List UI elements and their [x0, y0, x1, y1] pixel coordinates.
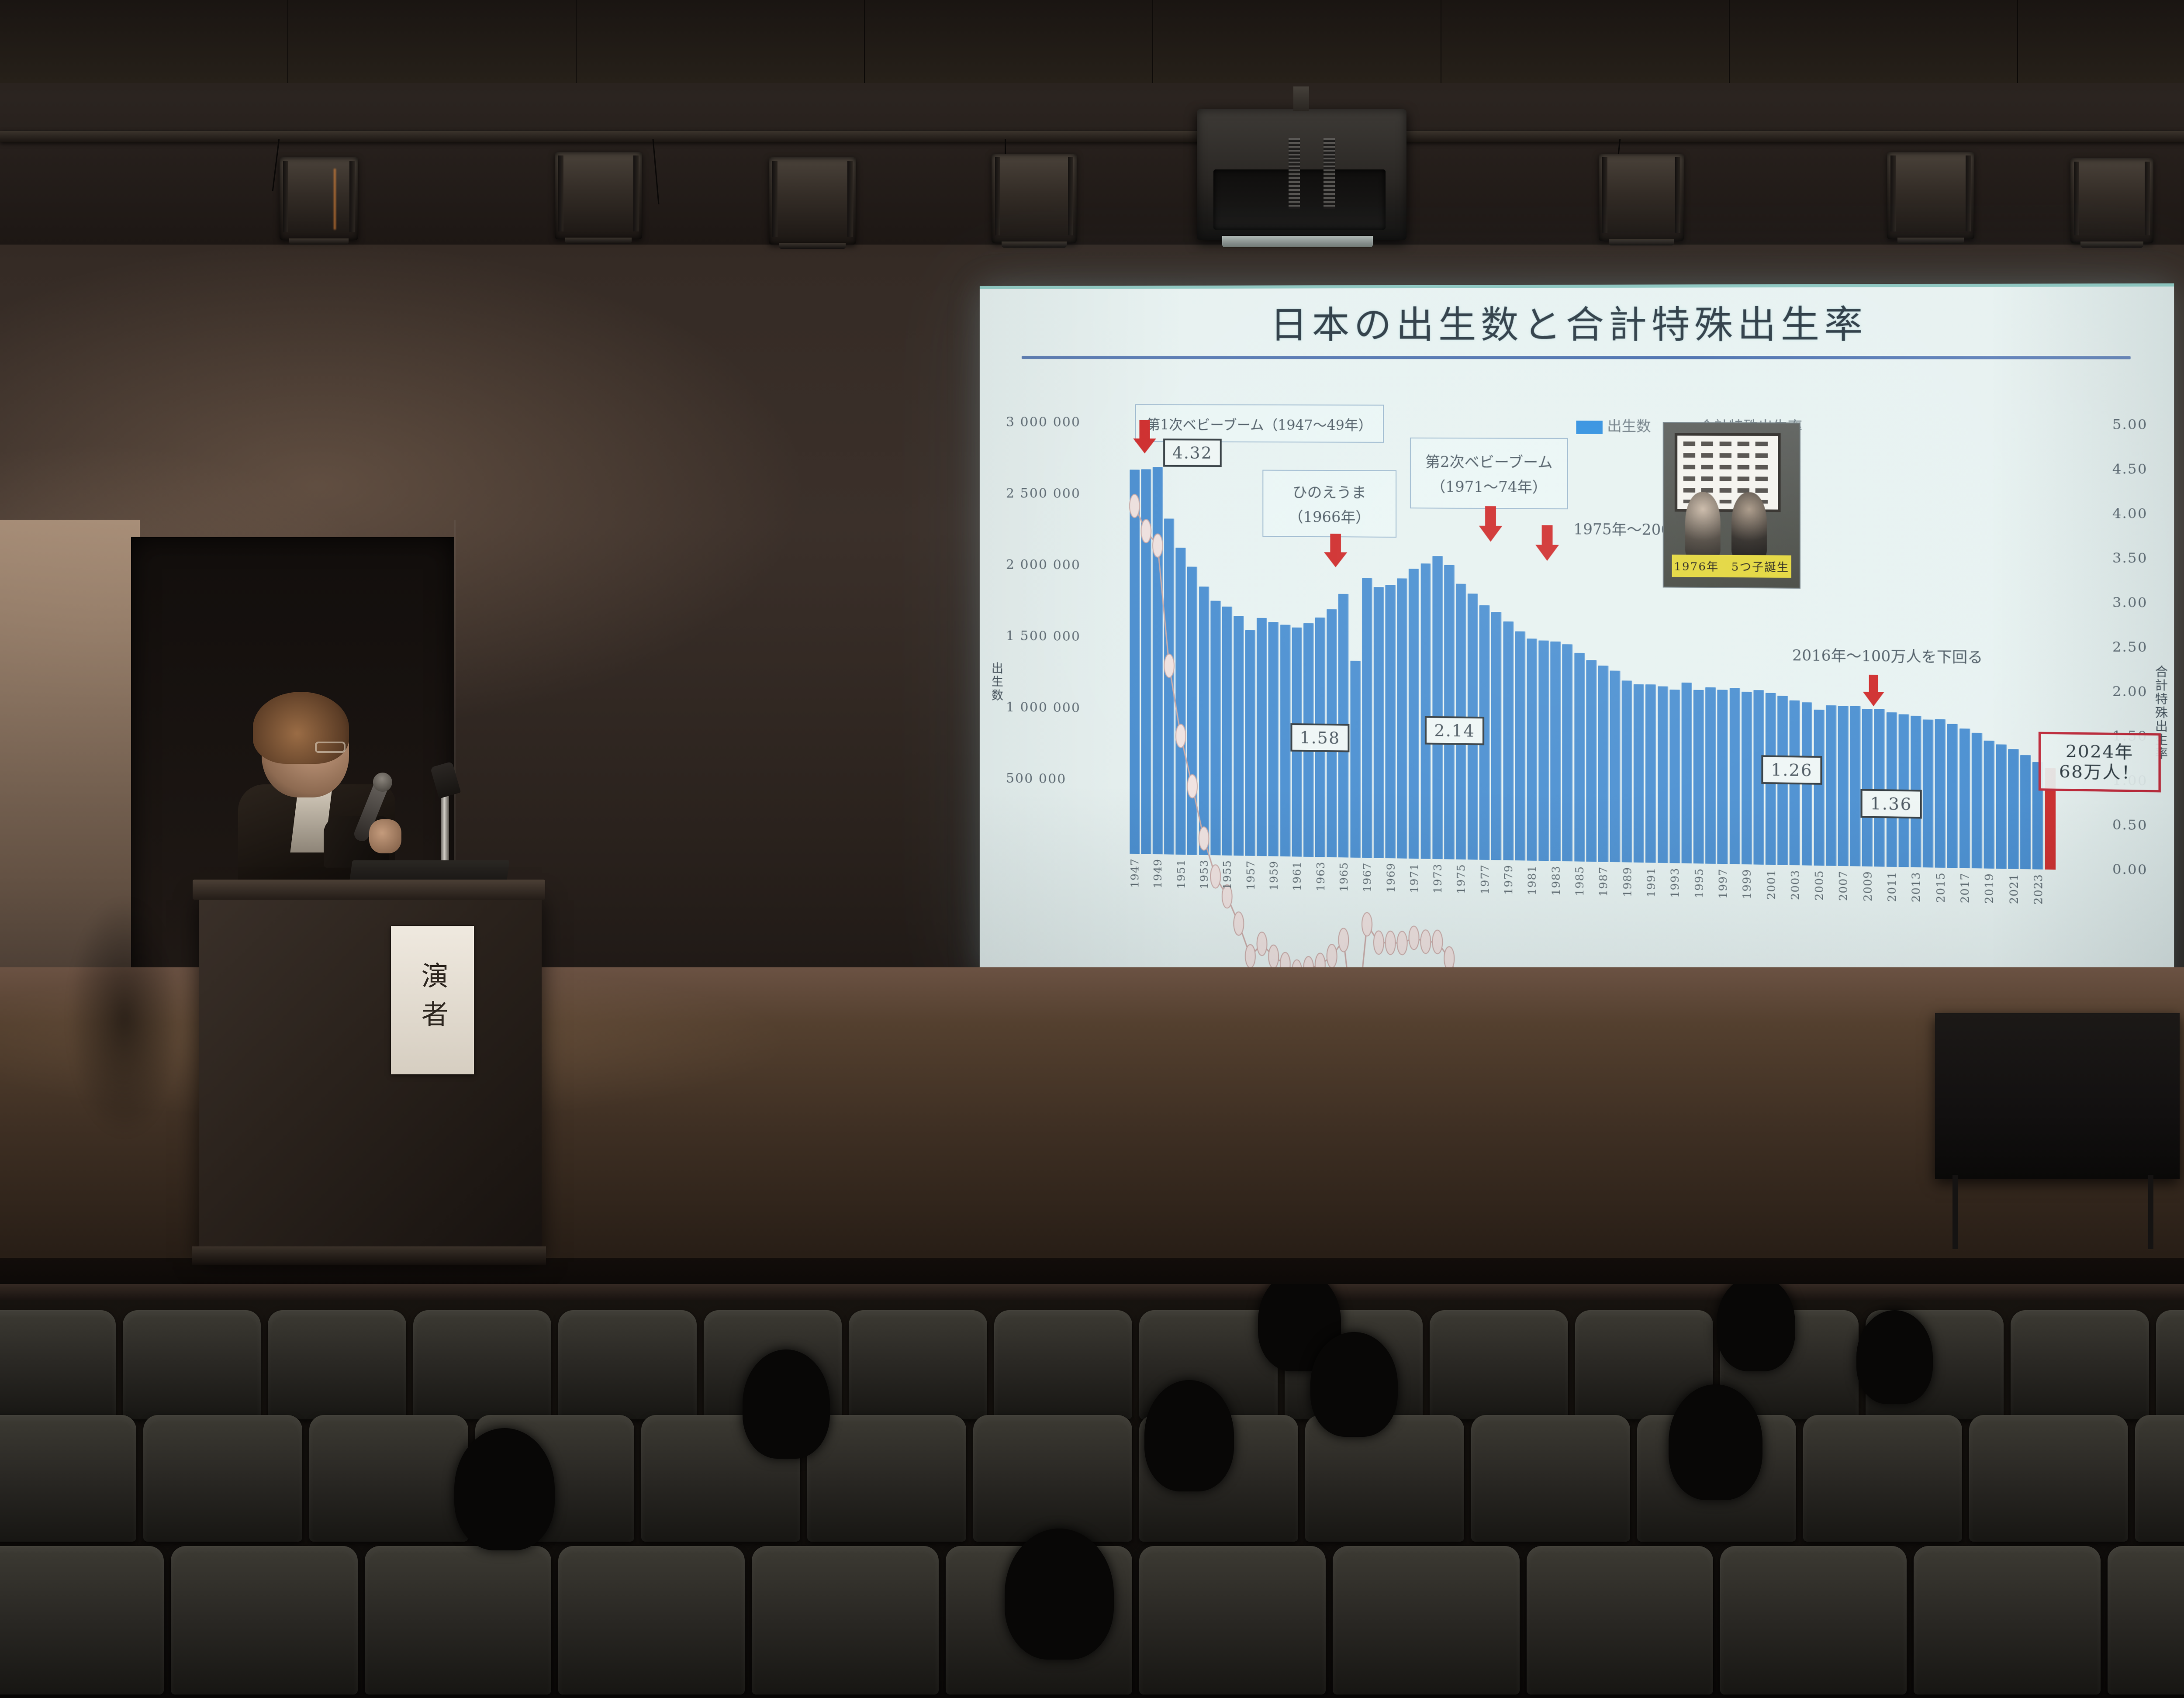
x-tick-label: 1981 — [1525, 865, 1538, 895]
x-tick — [1538, 863, 1550, 957]
ceiling-panel — [1153, 0, 1441, 83]
podium: 演者 — [199, 891, 542, 1253]
audience-head — [454, 1428, 555, 1550]
podium-sign-label: 演者 — [413, 962, 452, 1039]
x-tick: 1999 — [1741, 867, 1753, 961]
bar — [1838, 706, 1849, 866]
bar — [1362, 578, 1372, 858]
x-tick: 1949 — [1152, 857, 1163, 949]
bar — [1551, 642, 1561, 861]
seat — [0, 1310, 116, 1419]
x-tick — [1898, 870, 1910, 964]
bar — [1503, 621, 1514, 860]
x-tick — [1303, 859, 1314, 953]
x-tick: 1981 — [1526, 863, 1538, 957]
x-tick — [1609, 865, 1621, 959]
x-tick: 2007 — [1837, 869, 1849, 963]
x-tick — [1140, 856, 1152, 949]
x-tick — [1279, 859, 1291, 952]
x-tick-label: 1955 — [1221, 860, 1234, 890]
bar — [1280, 625, 1290, 856]
projector-vent-icon — [1324, 138, 1335, 209]
bar — [1874, 709, 1885, 867]
x-tick — [2020, 872, 2032, 967]
bar — [1222, 606, 1232, 856]
bar — [1862, 709, 1873, 867]
arrow-down-icon-2016 — [1863, 675, 1884, 707]
x-tick-label: 1949 — [1151, 859, 1164, 889]
x-tick: 1985 — [1573, 864, 1585, 958]
bar — [1562, 644, 1573, 861]
lighting-truss — [0, 131, 2184, 142]
x-tick: 1953 — [1198, 858, 1210, 950]
x-tick: 2019 — [1983, 871, 1995, 966]
x-tick — [1753, 867, 1765, 962]
seat — [0, 1415, 136, 1542]
bar — [1491, 612, 1502, 860]
bar — [1947, 724, 1958, 868]
note-below-one-million: 2016年〜100万人を下回る — [1792, 643, 1983, 667]
ceiling-projector — [1197, 109, 1406, 240]
y-tick-left: 3 000 000 — [1006, 414, 1081, 430]
stage-light — [1887, 152, 1974, 239]
x-tick-label: 1963 — [1314, 861, 1327, 891]
x-tick-label: 2021 — [2007, 873, 2020, 904]
bar — [1598, 666, 1608, 862]
ceiling-panel — [1730, 0, 2018, 83]
x-tick — [1209, 858, 1221, 950]
bar — [1574, 653, 1585, 862]
seat — [1139, 1546, 1326, 1695]
stage-light — [1599, 154, 1684, 241]
x-tick-label: 1957 — [1244, 860, 1257, 890]
bar — [1634, 684, 1644, 863]
x-tick-label: 1983 — [1549, 866, 1562, 896]
x-tick-label: 2003 — [1788, 870, 1802, 900]
y-axis-left-title: 出生数 — [988, 662, 1005, 702]
x-tick-label: 2015 — [1934, 872, 1947, 903]
stage-light — [769, 157, 856, 245]
red-callout-line-2: 68万人！ — [2059, 762, 2140, 783]
x-tick: 1961 — [1291, 859, 1303, 952]
ceiling-panel — [865, 0, 1153, 83]
x-tick: 2001 — [1765, 867, 1777, 962]
x-tick-label: 1971 — [1407, 863, 1420, 893]
x-tick: 2013 — [1910, 870, 1922, 965]
x-tick — [1396, 861, 1408, 954]
projection-screen: 日本の出生数と合計特殊出生率 出生数 合計特殊出生率 出生数 合計特殊出生率 3… — [980, 283, 2174, 1002]
x-tick: 1957 — [1244, 858, 1256, 951]
slide: 日本の出生数と合計特殊出生率 出生数 合計特殊出生率 出生数 合計特殊出生率 3… — [980, 283, 2174, 1002]
x-tick — [1443, 862, 1455, 955]
bar — [1176, 548, 1186, 855]
bar — [1923, 720, 1933, 868]
x-tick: 2009 — [1861, 869, 1873, 964]
x-tick: 1975 — [1455, 862, 1467, 956]
x-tick — [1633, 865, 1645, 959]
seat — [752, 1546, 938, 1695]
seat — [268, 1310, 406, 1419]
x-tick-label: 1953 — [1198, 859, 1210, 890]
x-tick — [1373, 861, 1385, 954]
speaker-shadow — [52, 865, 197, 1170]
x-tick-label: 1965 — [1337, 862, 1350, 892]
seating-rail — [0, 1284, 2184, 1300]
stage-light — [280, 157, 358, 240]
bar — [1658, 687, 1668, 863]
x-tick: 1971 — [1408, 861, 1420, 955]
x-tick — [1349, 860, 1361, 953]
slide-title: 日本の出生数と合計特殊出生率 — [997, 304, 2157, 345]
x-tick — [1873, 869, 1886, 964]
seat — [123, 1310, 261, 1419]
bar — [1971, 733, 1982, 869]
audience-head — [1856, 1310, 1933, 1404]
bar — [1610, 670, 1621, 862]
red-callout-2024: 2024年 68万人！ — [2039, 732, 2161, 793]
x-tick: 1979 — [1502, 863, 1514, 956]
y-tick-right: 5.00 — [2112, 417, 2148, 433]
seat — [849, 1310, 987, 1419]
seat — [1430, 1310, 1568, 1419]
x-tick-label: 1999 — [1740, 869, 1754, 899]
annotation-first-baby-boom: 第1次ベビーブーム（1947〜49年） — [1135, 404, 1384, 443]
x-tick-label: 2013 — [1909, 872, 1923, 902]
audience-head — [1717, 1284, 1795, 1371]
seat — [143, 1415, 302, 1542]
x-tick: 1963 — [1314, 859, 1326, 953]
x-tick: 1997 — [1717, 866, 1728, 961]
seat — [1305, 1415, 1464, 1542]
y-tick-right: 0.00 — [2112, 862, 2148, 878]
x-tick — [1514, 863, 1526, 956]
arrow-down-icon-first-boom — [1133, 420, 1156, 454]
bar — [1245, 630, 1255, 856]
y-tick-left: 500 000 — [1006, 771, 1066, 787]
bar — [1622, 680, 1632, 863]
x-tick-label: 2017 — [1958, 873, 1971, 903]
seat — [558, 1546, 745, 1695]
x-tick: 1967 — [1361, 860, 1373, 953]
x-tick-label: 1947 — [1128, 858, 1141, 888]
seat — [413, 1310, 552, 1419]
x-tick-label: 1967 — [1361, 862, 1374, 892]
x-tick: 1951 — [1175, 857, 1186, 950]
title-underline — [1022, 356, 2131, 359]
x-tick — [1467, 862, 1479, 956]
x-tick — [2044, 872, 2056, 967]
seat — [365, 1546, 551, 1695]
bar — [1164, 519, 1174, 855]
bar — [1669, 690, 1680, 863]
x-tick-label: 2009 — [1861, 871, 1874, 901]
seat — [2108, 1546, 2184, 1695]
seat — [309, 1415, 468, 1542]
arrow-down-icon-1975 — [1535, 525, 1559, 561]
seat — [1527, 1546, 1713, 1695]
y-tick-left: 2 000 000 — [1006, 557, 1081, 573]
bar — [1527, 638, 1537, 861]
audience-head — [743, 1349, 830, 1459]
bar — [1742, 692, 1752, 864]
y-tick-right: 0.50 — [2112, 817, 2148, 834]
x-tick-label: 2019 — [1982, 873, 1996, 904]
bar — [1420, 563, 1431, 859]
stage-light — [992, 154, 1077, 243]
x-tick: 1969 — [1385, 861, 1396, 954]
annotation-line-1: 第2次ベビーブーム — [1425, 450, 1553, 472]
bar — [1374, 587, 1384, 858]
bar — [1385, 585, 1396, 858]
seat — [1333, 1546, 1519, 1695]
seat — [171, 1546, 357, 1695]
x-tick: 2011 — [1886, 870, 1898, 964]
x-tick: 2023 — [2032, 872, 2044, 967]
x-tick — [1971, 871, 1983, 966]
x-tick: 1977 — [1479, 863, 1490, 956]
bar — [2020, 755, 2031, 869]
ceiling-panel — [0, 0, 288, 83]
x-tick-label: 1993 — [1668, 867, 1681, 898]
seat — [1471, 1415, 1630, 1542]
x-tick — [1256, 859, 1268, 952]
x-axis-labels: 1947194919511953195519571959196119631965… — [1129, 856, 2056, 967]
x-tick-label: 1977 — [1478, 864, 1491, 894]
stage-light — [555, 152, 642, 239]
x-tick — [1849, 869, 1862, 963]
x-tick-label: 1969 — [1384, 863, 1397, 893]
x-tick: 2017 — [1959, 871, 1971, 966]
annotation-line-2: （1971〜74年） — [1431, 475, 1547, 497]
projector-vent-icon — [1289, 138, 1300, 209]
y-tick-right: 2.00 — [2112, 684, 2148, 700]
bar — [1350, 661, 1361, 858]
x-tick: 2005 — [1813, 868, 1825, 963]
seat-row — [0, 1415, 2184, 1542]
x-tick-label: 1997 — [1716, 868, 1729, 899]
x-tick — [1995, 871, 2008, 966]
x-tick — [1186, 857, 1198, 950]
arrow-down-icon-hinoeuma — [1324, 534, 1347, 567]
x-tick-label: 1951 — [1175, 859, 1187, 889]
bar — [1645, 684, 1656, 863]
y-tick-right: 4.00 — [2112, 506, 2148, 522]
seat — [1969, 1415, 2128, 1542]
x-tick — [1922, 870, 1934, 965]
projector-light-output — [1222, 236, 1373, 247]
seat — [558, 1310, 697, 1419]
stage-light — [2070, 158, 2153, 243]
presenter-hair — [253, 692, 349, 764]
x-tick — [1163, 857, 1175, 949]
podium-top — [193, 880, 545, 900]
x-tick-label: 1975 — [1455, 864, 1468, 894]
bar — [1826, 705, 1836, 866]
y-tick-left: 2 500 000 — [1006, 486, 1081, 501]
y-tick-right: 4.50 — [2112, 461, 2148, 477]
x-tick: 1959 — [1268, 859, 1279, 952]
bar — [1717, 690, 1728, 864]
x-tick-label: 1989 — [1621, 866, 1634, 897]
y-tick-right: 3.00 — [2112, 595, 2148, 611]
x-tick: 1973 — [1431, 862, 1443, 955]
x-tick: 1965 — [1338, 860, 1350, 953]
x-tick-label: 1973 — [1431, 863, 1444, 894]
bar — [1153, 467, 1163, 855]
x-tick-label: 2023 — [2031, 874, 2045, 905]
red-callout-line-1: 2024年 — [2066, 741, 2134, 763]
x-tick-label: 2007 — [1836, 870, 1850, 901]
ceiling-panel — [288, 0, 577, 83]
bar — [1187, 567, 1197, 855]
bar — [1959, 728, 1970, 868]
bar — [1268, 622, 1279, 856]
seat — [2156, 1310, 2184, 1419]
bar — [1705, 687, 1716, 864]
x-tick-label: 1991 — [1644, 867, 1657, 897]
seat — [0, 1546, 164, 1695]
audience-seating — [0, 1284, 2184, 1698]
annotation-line-2: （1966年） — [1289, 505, 1370, 527]
y-tick-left: 1 500 000 — [1006, 628, 1081, 645]
bar — [1199, 587, 1209, 855]
x-tick — [1705, 866, 1717, 961]
value-callout-tfr-2005: 1.26 — [1761, 755, 1822, 785]
x-tick — [1657, 866, 1669, 959]
x-tick — [1801, 868, 1813, 963]
audience-head — [1310, 1332, 1398, 1437]
bar — [1515, 631, 1525, 860]
bar — [1234, 616, 1244, 856]
x-tick-label: 1961 — [1290, 861, 1303, 891]
seat — [2135, 1415, 2184, 1542]
seat — [2011, 1310, 2149, 1419]
x-tick-label: 2005 — [1812, 870, 1826, 901]
x-tick — [1825, 868, 1837, 963]
bar — [1984, 741, 1994, 869]
y-tick-left: 1 000 000 — [1006, 700, 1081, 716]
ceiling-panel — [577, 0, 865, 83]
bar — [1538, 641, 1549, 861]
x-tick — [1777, 868, 1789, 962]
value-callout-tfr-2015: 1.36 — [1861, 789, 1922, 818]
x-tick: 1995 — [1693, 866, 1704, 960]
x-tick — [1420, 861, 1431, 955]
value-callout-tfr-1947: 4.32 — [1163, 438, 1222, 467]
seat — [807, 1415, 966, 1542]
x-tick — [1490, 863, 1502, 956]
projector-mount — [1293, 86, 1309, 111]
value-callout-tfr-1966: 1.58 — [1291, 723, 1350, 752]
ceiling-panel — [1441, 0, 1730, 83]
x-tick: 1955 — [1221, 858, 1233, 951]
podium-base — [192, 1246, 546, 1265]
audience-head — [1669, 1384, 1762, 1500]
seat — [1803, 1415, 1962, 1542]
x-tick: 1991 — [1645, 865, 1657, 959]
bar — [1210, 601, 1220, 855]
bar — [1682, 682, 1692, 863]
x-tick: 1987 — [1597, 864, 1609, 958]
bar — [1397, 579, 1407, 859]
y-tick-right: 3.50 — [2112, 550, 2148, 566]
annotation-line-1: ひのえうま — [1292, 480, 1366, 502]
bar — [1935, 719, 1946, 868]
photo-caption: 1976年 5つ子誕生 — [1672, 555, 1791, 578]
audience-head — [1144, 1380, 1234, 1491]
bar — [1693, 690, 1704, 864]
x-tick: 2003 — [1789, 868, 1801, 962]
x-tick — [1946, 870, 1959, 966]
x-tick — [1326, 860, 1338, 953]
side-table — [1935, 1013, 2180, 1179]
x-tick: 1989 — [1621, 865, 1633, 959]
seat — [973, 1415, 1132, 1542]
bar — [2008, 749, 2019, 869]
x-tick — [1585, 864, 1597, 958]
photo-person — [1685, 492, 1721, 558]
x-tick-label: 1959 — [1267, 860, 1280, 890]
bar — [1850, 706, 1860, 866]
x-tick: 1993 — [1669, 866, 1680, 960]
photo-person — [1731, 492, 1767, 558]
x-tick-label: 1987 — [1597, 866, 1610, 897]
audience-head — [1005, 1529, 1114, 1660]
bar — [1586, 660, 1597, 862]
y-tick-right: 2.50 — [2112, 639, 2148, 656]
arrow-down-icon-second-boom — [1479, 506, 1503, 542]
x-tick: 1983 — [1550, 864, 1562, 958]
lecture-hall-scene: 日本の出生数と合計特殊出生率 出生数 合計特殊出生率 出生数 合計特殊出生率 3… — [0, 0, 2184, 1698]
bar — [1996, 745, 2007, 869]
seat — [994, 1310, 1133, 1419]
x-tick: 1947 — [1129, 856, 1140, 949]
x-tick-label: 1995 — [1692, 868, 1705, 898]
x-tick-label: 2011 — [1885, 871, 1898, 902]
bar — [1409, 569, 1419, 859]
bar — [1141, 469, 1151, 854]
x-tick — [1729, 867, 1741, 961]
x-tick — [1562, 864, 1573, 958]
seat — [1720, 1546, 1907, 1695]
x-tick: 2015 — [1934, 870, 1946, 965]
presenter-hand — [369, 819, 401, 853]
ceiling-panel — [2018, 0, 2184, 83]
glasses-icon — [315, 742, 346, 753]
bar — [1729, 688, 1740, 864]
annotation-hinoeuma: ひのえうま （1966年） — [1262, 470, 1396, 538]
chart: 出生数 合計特殊出生率 出生数 合計特殊出生率 3 000 000 2 500 … — [980, 417, 2174, 1002]
annotation-second-baby-boom: 第2次ベビーブーム （1971〜74年） — [1410, 438, 1568, 509]
bar — [1432, 556, 1443, 859]
bar — [1257, 618, 1267, 856]
x-tick — [1681, 866, 1693, 960]
bar — [1130, 469, 1140, 854]
x-tick-label: 1979 — [1502, 865, 1515, 895]
inset-photo-quintuplets: 1976年 5つ子誕生 — [1663, 422, 1800, 589]
podium-sign: 演者 — [391, 926, 474, 1074]
value-callout-tfr-1973: 2.14 — [1425, 716, 1484, 745]
seat — [1914, 1546, 2100, 1695]
x-tick: 2021 — [2008, 872, 2020, 967]
annotation-line-1: 第1次ベビーブーム（1947〜49年） — [1147, 413, 1372, 434]
bar — [1444, 565, 1455, 859]
x-tick-label: 2001 — [1764, 869, 1778, 900]
x-tick-label: 1985 — [1573, 866, 1586, 897]
bar — [1814, 710, 1824, 866]
x-tick — [1233, 858, 1245, 951]
